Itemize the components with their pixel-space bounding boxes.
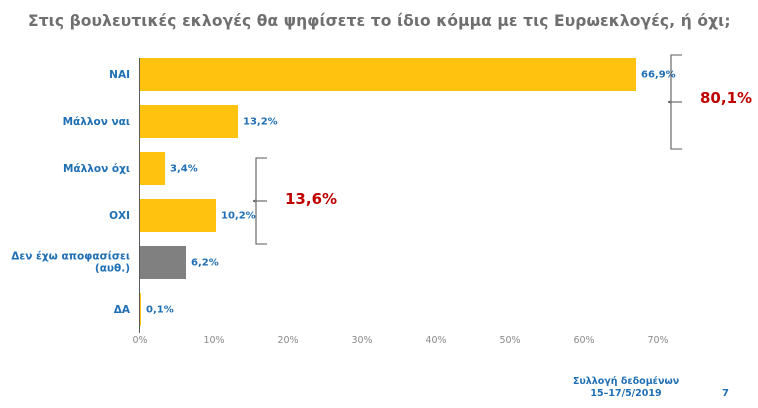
category-label-mallon-nai: Μάλλον ναι [5,115,130,128]
bar-value-mallon-nai: 13,2% [243,116,278,127]
bracket-label-top-group: 80,1% [700,89,752,107]
x-tick-70: 70% [647,335,668,346]
bar-row-nai[interactable]: ΝΑΙ 66,9% [0,58,758,91]
bar-nai[interactable] [140,58,636,91]
bar-ochi[interactable] [140,199,216,232]
x-tick-60: 60% [573,335,594,346]
bar-row-mallon-ochi[interactable]: Μάλλον όχι 3,4% [0,152,758,185]
bar-row-mallon-nai[interactable]: Μάλλον ναι 13,2% [0,105,758,138]
x-tick-30: 30% [351,335,372,346]
bar-row-label-wrap: Μάλλον ναι [0,105,130,138]
data-collection-dates: 15–17/5/2019 [556,388,696,400]
bar-da[interactable] [140,293,141,326]
y-axis-line [139,58,140,333]
x-tick-0: 0% [132,335,147,346]
bar-value-ochi: 10,2% [221,210,256,221]
category-label-ochi: ΟΧΙ [5,209,130,222]
x-axis: 0% 10% 20% 30% 40% 50% 60% 70% [0,335,758,355]
category-label-line1: Δεν έχω αποφασίσει [11,250,130,262]
category-label-mallon-ochi: Μάλλον όχι [5,162,130,175]
bar-row-label-wrap: ΝΑΙ [0,58,130,91]
bar-row-den-echo-apofasisei[interactable]: Δεν έχω αποφασίσει (αυθ.) 6,2% [0,246,758,279]
bar-value-mallon-ochi: 3,4% [170,163,198,174]
x-tick-40: 40% [425,335,446,346]
bar-row-label-wrap: Μάλλον όχι [0,152,130,185]
page-title: Στις βουλευτικές εκλογές θα ψηφίσετε το … [28,12,738,30]
bracket-top-group [668,54,694,150]
bracket-bottom-group [253,157,279,245]
bar-den-echo-apofasisei[interactable] [140,246,186,279]
category-label-nai: ΝΑΙ [5,68,130,81]
bar-mallon-ochi[interactable] [140,152,165,185]
bar-row-label-wrap: ΟΧΙ [0,199,130,232]
bracket-label-bottom-group: 13,6% [285,190,337,208]
bar-value-da: 0,1% [146,304,174,315]
x-tick-50: 50% [499,335,520,346]
bar-mallon-nai[interactable] [140,105,238,138]
category-label-line2: (αυθ.) [95,263,130,275]
data-collection-label: Συλλογή δεδομένων [556,376,696,388]
bar-row-ochi[interactable]: ΟΧΙ 10,2% [0,199,758,232]
x-tick-20: 20% [277,335,298,346]
bar-row-label-wrap: ΔΑ [0,293,130,326]
data-collection-note: Συλλογή δεδομένων 15–17/5/2019 [556,376,696,400]
page-number: 7 [722,388,729,399]
bar-value-den-echo-apofasisei: 6,2% [191,257,219,268]
category-label-da: ΔΑ [5,303,130,316]
x-tick-10: 10% [203,335,224,346]
bar-row-da[interactable]: ΔΑ 0,1% [0,293,758,326]
category-label-den-echo-apofasisei: Δεν έχω αποφασίσει (αυθ.) [5,250,130,275]
chart-plot-area: ΝΑΙ 66,9% Μάλλον ναι 13,2% Μάλλον όχι 3,… [0,52,758,342]
bar-row-label-wrap: Δεν έχω αποφασίσει (αυθ.) [0,246,130,279]
